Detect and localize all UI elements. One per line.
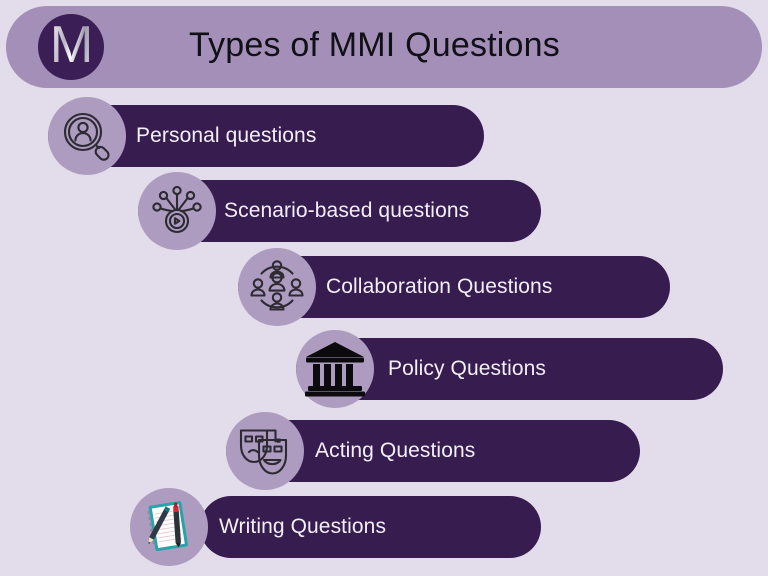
list-item-label: Writing Questions xyxy=(219,515,386,539)
list-item[interactable]: Collaboration Questions xyxy=(238,256,670,318)
people-circle-icon xyxy=(238,248,316,326)
list-item[interactable]: Scenario-based questions xyxy=(138,180,541,242)
list-item-label: Policy Questions xyxy=(388,357,546,381)
list-item-label: Personal questions xyxy=(136,124,316,148)
list-item[interactable]: Writing Questions xyxy=(130,496,541,558)
notebook-pen-icon xyxy=(130,488,208,566)
list-item-label: Acting Questions xyxy=(315,439,475,463)
magnifier-person-icon xyxy=(48,97,126,175)
list-item[interactable]: Acting Questions xyxy=(226,420,640,482)
infographic-canvas: M Types of MMI Questions Personal questi… xyxy=(0,0,768,576)
government-building-icon xyxy=(296,330,374,408)
list-item[interactable]: Policy Questions xyxy=(296,338,723,400)
mmi-logo: M xyxy=(38,14,104,80)
list-item[interactable]: Personal questions xyxy=(48,105,484,167)
logo-letter: M xyxy=(50,19,92,75)
theater-masks-icon xyxy=(226,412,304,490)
list-item-label: Collaboration Questions xyxy=(326,275,552,299)
header-bar: M Types of MMI Questions xyxy=(6,6,762,88)
network-nodes-play-icon xyxy=(138,172,216,250)
page-title: Types of MMI Questions xyxy=(189,26,560,65)
list-item-label: Scenario-based questions xyxy=(224,199,469,223)
